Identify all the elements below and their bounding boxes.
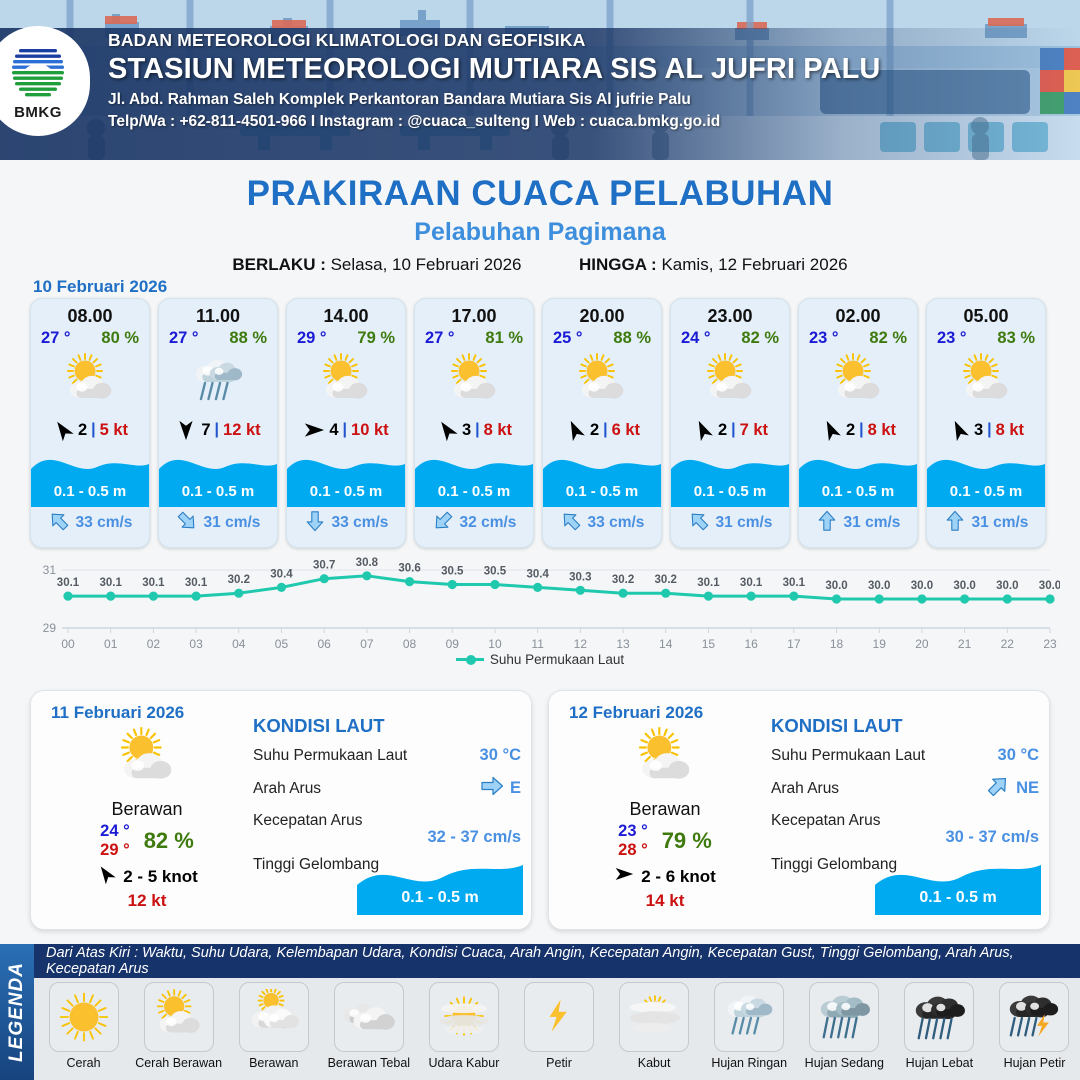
wind-direction-arrow-icon <box>692 419 714 441</box>
card-humidity: 88 % <box>613 329 651 348</box>
panel-temp-min: 23 ° <box>618 822 648 841</box>
svg-text:30.6: 30.6 <box>398 563 420 575</box>
card-wind-row: 2 | 6 kt <box>543 415 661 445</box>
wind-direction-arrow-icon <box>436 419 458 441</box>
forecast-card: 08.00 27 ° 80 % 2 | 5 kt 0. <box>30 298 150 548</box>
berlaku-value: Selasa, 10 Februari 2026 <box>331 255 522 274</box>
svg-text:30.1: 30.1 <box>185 577 208 589</box>
svg-text:09: 09 <box>446 637 460 651</box>
panel-wind-range: 2 - 6 knot <box>641 867 716 887</box>
svg-text:03: 03 <box>189 637 203 651</box>
panel-wind-row: 2 - 5 knot <box>47 864 247 889</box>
panel-temp-max: 29 ° <box>100 841 130 860</box>
svg-text:14: 14 <box>659 637 673 651</box>
forecast-day-label: 10 Februari 2026 <box>33 277 167 297</box>
svg-text:10: 10 <box>488 637 502 651</box>
svg-text:30.4: 30.4 <box>270 568 293 580</box>
current-direction-arrow-icon <box>986 774 1010 803</box>
svg-text:01: 01 <box>104 637 118 651</box>
card-time: 17.00 <box>415 299 533 327</box>
svg-text:30.3: 30.3 <box>569 571 591 583</box>
panel-wave-band: 0.1 - 0.5 m <box>875 859 1041 915</box>
current-direction-arrow-icon <box>560 510 582 537</box>
panel-date: 11 Februari 2026 <box>51 703 184 723</box>
wind-direction-arrow-icon <box>303 419 325 441</box>
svg-text:30.0: 30.0 <box>825 580 847 592</box>
sst-chart: 3129000102030405060708091011121314151617… <box>20 556 1060 686</box>
wind-gust: 5 kt <box>100 421 128 440</box>
current-speed: 33 cm/s <box>588 514 645 532</box>
wind-speed: 7 <box>201 421 210 440</box>
svg-text:21: 21 <box>958 637 972 651</box>
legend-line-marker <box>456 658 484 661</box>
legend-side-title: LEGENDA <box>6 962 28 1062</box>
legend-item: Berawan <box>228 982 319 1070</box>
weather-icon-cerah-berawan <box>144 982 214 1052</box>
weather-icon-cerah-berawan <box>415 351 533 413</box>
svg-text:30.0: 30.0 <box>868 580 890 592</box>
sst-row: Suhu Permukaan Laut 30 °C <box>771 746 1039 765</box>
panel-wind-gust: 14 kt <box>565 891 765 911</box>
page-subtitle: Pelabuhan Pagimana <box>0 218 1080 247</box>
bmkg-emblem-icon <box>7 41 69 103</box>
panel-condition: Berawan <box>47 799 247 820</box>
wind-separator: | <box>731 421 735 439</box>
current-direction-arrow-icon <box>48 510 70 537</box>
weather-icon-hujan-lebat <box>904 982 974 1052</box>
card-wave-band: 0.1 - 0.5 m <box>287 447 405 507</box>
card-wind-row: 2 | 8 kt <box>799 415 917 445</box>
legend-item-label: Petir <box>513 1056 604 1070</box>
current-direction-label: Arah Arus <box>771 780 839 798</box>
svg-text:30.5: 30.5 <box>441 566 464 578</box>
svg-text:30.0: 30.0 <box>1039 580 1060 592</box>
weather-icon-hujan-sedang <box>809 982 879 1052</box>
chart-legend: Suhu Permukaan Laut <box>20 652 1060 667</box>
wave-height: 0.1 - 0.5 m <box>799 483 917 500</box>
header-address: Jl. Abd. Rahman Saleh Komplek Perkantora… <box>108 91 880 109</box>
card-time: 02.00 <box>799 299 917 327</box>
legend-item: Berawan Tebal <box>323 982 414 1070</box>
legend-item: Hujan Lebat <box>894 982 985 1070</box>
wind-speed: 2 <box>78 421 87 440</box>
svg-text:07: 07 <box>360 637 374 651</box>
svg-text:00: 00 <box>61 637 75 651</box>
current-direction-row: Arah Arus NE <box>771 774 1039 803</box>
wind-separator: | <box>215 421 219 439</box>
card-wave-band: 0.1 - 0.5 m <box>543 447 661 507</box>
forecast-card-row: 08.00 27 ° 80 % 2 | 5 kt 0. <box>30 298 1050 548</box>
current-direction-arrow-icon <box>480 774 504 803</box>
current-direction-value: NE <box>1016 779 1039 798</box>
legend-item: Petir <box>513 982 604 1070</box>
svg-text:11: 11 <box>531 637 544 651</box>
card-temp-humidity-row: 24 ° 82 % <box>671 327 789 348</box>
card-temp-humidity-row: 27 ° 80 % <box>31 327 149 348</box>
card-temperature: 27 ° <box>41 329 71 348</box>
current-speed: 31 cm/s <box>972 514 1029 532</box>
weather-icon-cerah-berawan <box>671 351 789 413</box>
panel-humidity: 79 % <box>662 828 712 854</box>
card-wave-band: 0.1 - 0.5 m <box>159 447 277 507</box>
sea-conditions-heading: KONDISI LAUT <box>771 715 1039 737</box>
panel-wave-value: 0.1 - 0.5 m <box>875 889 1041 907</box>
wind-separator: | <box>343 421 347 439</box>
svg-text:30.0: 30.0 <box>953 580 975 592</box>
svg-text:30.1: 30.1 <box>100 577 123 589</box>
svg-text:30.1: 30.1 <box>142 577 165 589</box>
current-speed: 33 cm/s <box>332 514 389 532</box>
card-wind-row: 3 | 8 kt <box>927 415 1045 445</box>
card-temp-humidity-row: 23 ° 83 % <box>927 327 1045 348</box>
card-wave-band: 0.1 - 0.5 m <box>927 447 1045 507</box>
panel-humidity: 82 % <box>144 828 194 854</box>
forecast-card: 02.00 23 ° 82 % 2 | 8 kt 0. <box>798 298 918 548</box>
current-speed-value: 32 - 37 cm/s <box>427 828 521 847</box>
validity-range: BERLAKU : Selasa, 10 Februari 2026 HINGG… <box>0 255 1080 275</box>
wind-direction-arrow-icon <box>175 419 197 441</box>
sst-value: 30 °C <box>998 746 1039 765</box>
svg-text:16: 16 <box>744 637 758 651</box>
hingga-label: HINGGA : <box>579 255 657 274</box>
panel-left-column: Berawan 23 ° 28 ° 79 % 2 - 6 knot 14 kt <box>565 727 765 911</box>
current-speed: 33 cm/s <box>76 514 133 532</box>
legend-item: Cerah Berawan <box>133 982 224 1070</box>
card-time: 05.00 <box>927 299 1045 327</box>
weather-icon-cerah-berawan <box>47 727 247 793</box>
forecast-card: 14.00 29 ° 79 % 4 | 10 kt 0 <box>286 298 406 548</box>
svg-text:08: 08 <box>403 637 417 651</box>
legend-item-label: Hujan Lebat <box>894 1056 985 1070</box>
legend-item-label: Cerah <box>38 1056 129 1070</box>
svg-text:02: 02 <box>147 637 161 651</box>
legend-label-sst: Suhu Permukaan Laut <box>490 652 624 667</box>
panel-temp-min: 24 ° <box>100 822 130 841</box>
svg-text:19: 19 <box>873 637 887 651</box>
svg-text:30.1: 30.1 <box>740 577 763 589</box>
wind-gust: 8 kt <box>868 421 896 440</box>
sst-row: Suhu Permukaan Laut 30 °C <box>253 746 521 765</box>
current-speed-label: Kecepatan Arus <box>253 812 362 830</box>
panel-wind-row: 2 - 6 knot <box>565 864 765 889</box>
card-temperature: 29 ° <box>297 329 327 348</box>
legend-item: Cerah <box>38 982 129 1070</box>
card-temp-humidity-row: 27 ° 81 % <box>415 327 533 348</box>
svg-text:18: 18 <box>830 637 844 651</box>
current-speed: 31 cm/s <box>204 514 261 532</box>
svg-text:06: 06 <box>317 637 331 651</box>
legend-item-row: Cerah Cerah Berawan Berawan <box>34 982 1080 1070</box>
legend-item-label: Berawan <box>228 1056 319 1070</box>
current-speed: 32 cm/s <box>460 514 517 532</box>
wind-speed: 4 <box>329 421 338 440</box>
card-wave-band: 0.1 - 0.5 m <box>799 447 917 507</box>
card-temperature: 23 ° <box>937 329 967 348</box>
legend-item-label: Hujan Sedang <box>799 1056 890 1070</box>
current-speed-value: 30 - 37 cm/s <box>945 828 1039 847</box>
card-temperature: 23 ° <box>809 329 839 348</box>
svg-text:23: 23 <box>1043 637 1057 651</box>
panel-date: 12 Februari 2026 <box>569 703 703 723</box>
wave-height: 0.1 - 0.5 m <box>543 483 661 500</box>
forecast-card: 17.00 27 ° 81 % 3 | 8 kt 0. <box>414 298 534 548</box>
svg-text:30.2: 30.2 <box>655 574 677 586</box>
wind-speed: 2 <box>590 421 599 440</box>
wind-gust: 12 kt <box>223 421 261 440</box>
svg-text:30.2: 30.2 <box>228 574 250 586</box>
current-speed-value-row: 32 - 37 cm/s <box>253 828 521 847</box>
panel-temp-humidity: 24 ° 29 ° 82 % <box>47 822 247 860</box>
bmkg-logo-text: BMKG <box>14 104 62 121</box>
wave-height: 0.1 - 0.5 m <box>927 483 1045 500</box>
card-temp-humidity-row: 29 ° 79 % <box>287 327 405 348</box>
wind-direction-arrow-icon <box>614 864 634 889</box>
wave-height: 0.1 - 0.5 m <box>415 483 533 500</box>
forecast-card: 05.00 23 ° 83 % 3 | 8 kt 0. <box>926 298 1046 548</box>
header-agency-name: BADAN METEOROLOGI KLIMATOLOGI DAN GEOFIS… <box>108 30 880 51</box>
sea-conditions-heading: KONDISI LAUT <box>253 715 521 737</box>
current-speed: 31 cm/s <box>716 514 773 532</box>
current-speed: 31 cm/s <box>844 514 901 532</box>
wind-direction-arrow-icon <box>948 419 970 441</box>
panel-temp-humidity: 23 ° 28 ° 79 % <box>565 822 765 860</box>
hingga-value: Kamis, 12 Februari 2026 <box>661 255 847 274</box>
daily-summary-panel: 12 Februari 2026 Berawan 23 ° 28 ° 79 % <box>548 690 1050 930</box>
wave-height: 0.1 - 0.5 m <box>671 483 789 500</box>
current-direction-label: Arah Arus <box>253 780 321 798</box>
card-current-row: 33 cm/s <box>31 507 149 539</box>
card-current-row: 31 cm/s <box>927 507 1045 539</box>
card-wind-row: 4 | 10 kt <box>287 415 405 445</box>
svg-text:05: 05 <box>275 637 289 651</box>
weather-icon-berawan-tebal <box>334 982 404 1052</box>
forecast-card: 23.00 24 ° 82 % 2 | 7 kt 0. <box>670 298 790 548</box>
current-direction-row: Arah Arus E <box>253 774 521 803</box>
wind-speed: 3 <box>462 421 471 440</box>
weather-icon-udara-kabur <box>429 982 499 1052</box>
card-time: 20.00 <box>543 299 661 327</box>
wind-separator: | <box>475 421 479 439</box>
card-wind-row: 2 | 7 kt <box>671 415 789 445</box>
card-temperature: 27 ° <box>169 329 199 348</box>
legend-item: Udara Kabur <box>418 982 509 1070</box>
wind-direction-arrow-icon <box>820 419 842 441</box>
current-direction-value: E <box>510 779 521 798</box>
wave-height: 0.1 - 0.5 m <box>287 483 405 500</box>
card-current-row: 31 cm/s <box>671 507 789 539</box>
weather-icon-cerah-berawan <box>287 351 405 413</box>
header-station-name: STASIUN METEOROLOGI MUTIARA SIS AL JUFRI… <box>108 53 880 86</box>
legend-item-label: Kabut <box>609 1056 700 1070</box>
svg-text:13: 13 <box>616 637 630 651</box>
card-time: 23.00 <box>671 299 789 327</box>
svg-text:31: 31 <box>43 563 57 577</box>
wave-height: 0.1 - 0.5 m <box>31 483 149 500</box>
forecast-card: 20.00 25 ° 88 % 2 | 6 kt 0. <box>542 298 662 548</box>
card-temperature: 27 ° <box>425 329 455 348</box>
wind-gust: 7 kt <box>740 421 768 440</box>
legend-item-label: Hujan Petir <box>989 1056 1080 1070</box>
card-temp-humidity-row: 25 ° 88 % <box>543 327 661 348</box>
legend-note: Dari Atas Kiri : Waktu, Suhu Udara, Kele… <box>34 944 1080 978</box>
berlaku-label: BERLAKU : <box>232 255 326 274</box>
legend-side-banner: LEGENDA <box>0 944 34 1080</box>
wind-separator: | <box>859 421 863 439</box>
card-wind-row: 2 | 5 kt <box>31 415 149 445</box>
weather-icon-cerah-berawan <box>565 727 765 793</box>
weather-icon-hujan-petir <box>999 982 1069 1052</box>
page-header: BMKG BADAN METEOROLOGI KLIMATOLOGI DAN G… <box>0 0 1080 160</box>
wind-direction-arrow-icon <box>96 864 116 889</box>
title-block: PRAKIRAAN CUACA PELABUHAN Pelabuhan Pagi… <box>0 160 1080 275</box>
weather-icon-petir <box>524 982 594 1052</box>
card-temp-humidity-row: 23 ° 82 % <box>799 327 917 348</box>
daily-summary-panel: 11 Februari 2026 Berawan 24 ° 29 ° 82 % <box>30 690 532 930</box>
current-direction-arrow-icon <box>816 510 838 537</box>
panel-wind-range: 2 - 5 knot <box>123 867 198 887</box>
weather-icon-cerah-berawan <box>31 351 149 413</box>
wind-gust: 10 kt <box>351 421 389 440</box>
svg-text:30.4: 30.4 <box>526 568 549 580</box>
wind-speed: 2 <box>718 421 727 440</box>
current-direction-arrow-icon <box>944 510 966 537</box>
legend-item-label: Udara Kabur <box>418 1056 509 1070</box>
card-current-row: 33 cm/s <box>543 507 661 539</box>
weather-icon-hujan-ringan <box>159 351 277 413</box>
card-humidity: 81 % <box>485 329 523 348</box>
card-wave-band: 0.1 - 0.5 m <box>415 447 533 507</box>
svg-text:30.2: 30.2 <box>612 574 634 586</box>
card-humidity: 88 % <box>229 329 267 348</box>
weather-icon-kabut <box>619 982 689 1052</box>
current-direction-arrow-icon <box>432 510 454 537</box>
legend-item: Hujan Sedang <box>799 982 890 1070</box>
legend-item: Hujan Ringan <box>704 982 795 1070</box>
current-direction-arrow-icon <box>688 510 710 537</box>
panel-condition: Berawan <box>565 799 765 820</box>
weather-icon-cerah-berawan <box>927 351 1045 413</box>
card-temperature: 25 ° <box>553 329 583 348</box>
svg-text:30.1: 30.1 <box>697 577 720 589</box>
svg-text:30.1: 30.1 <box>783 577 806 589</box>
svg-text:30.8: 30.8 <box>356 557 379 569</box>
wind-separator: | <box>987 421 991 439</box>
svg-text:17: 17 <box>787 637 801 651</box>
card-humidity: 82 % <box>869 329 907 348</box>
panel-sea-conditions: KONDISI LAUT Suhu Permukaan Laut 30 °C A… <box>253 715 521 874</box>
svg-text:30.0: 30.0 <box>911 580 933 592</box>
card-wind-row: 3 | 8 kt <box>415 415 533 445</box>
svg-text:12: 12 <box>574 637 588 651</box>
wind-direction-arrow-icon <box>564 419 586 441</box>
card-time: 11.00 <box>159 299 277 327</box>
weather-icon-cerah-berawan <box>799 351 917 413</box>
card-temp-humidity-row: 27 ° 88 % <box>159 327 277 348</box>
card-wind-row: 7 | 12 kt <box>159 415 277 445</box>
current-direction-arrow-icon <box>176 510 198 537</box>
current-speed-label: Kecepatan Arus <box>771 812 880 830</box>
card-temperature: 24 ° <box>681 329 711 348</box>
daily-summary-panels: 11 Februari 2026 Berawan 24 ° 29 ° 82 % <box>30 690 1050 930</box>
forecast-card: 11.00 27 ° 88 % 7 | 12 kt <box>158 298 278 548</box>
wind-direction-arrow-icon <box>52 419 74 441</box>
card-current-row: 31 cm/s <box>159 507 277 539</box>
sst-value: 30 °C <box>480 746 521 765</box>
card-current-row: 31 cm/s <box>799 507 917 539</box>
svg-text:30.5: 30.5 <box>484 566 507 578</box>
sst-label: Suhu Permukaan Laut <box>771 747 925 765</box>
panel-left-column: Berawan 24 ° 29 ° 82 % 2 - 5 knot 12 kt <box>47 727 247 911</box>
wind-gust: 6 kt <box>612 421 640 440</box>
legend-item: Kabut <box>609 982 700 1070</box>
weather-icon-cerah-berawan <box>543 351 661 413</box>
card-time: 14.00 <box>287 299 405 327</box>
svg-text:20: 20 <box>915 637 929 651</box>
wind-separator: | <box>91 421 95 439</box>
wind-separator: | <box>603 421 607 439</box>
page-title: PRAKIRAAN CUACA PELABUHAN <box>0 174 1080 214</box>
panel-wave-band: 0.1 - 0.5 m <box>357 859 523 915</box>
legend-item-label: Cerah Berawan <box>133 1056 224 1070</box>
panel-sea-conditions: KONDISI LAUT Suhu Permukaan Laut 30 °C A… <box>771 715 1039 874</box>
card-wave-band: 0.1 - 0.5 m <box>671 447 789 507</box>
wind-speed: 3 <box>974 421 983 440</box>
panel-wind-gust: 12 kt <box>47 891 247 911</box>
header-text-block: BADAN METEOROLOGI KLIMATOLOGI DAN GEOFIS… <box>108 30 880 131</box>
svg-text:30.0: 30.0 <box>996 580 1018 592</box>
legend-item-label: Hujan Ringan <box>704 1056 795 1070</box>
card-humidity: 80 % <box>101 329 139 348</box>
sst-chart-svg: 3129000102030405060708091011121314151617… <box>20 556 1060 652</box>
wind-gust: 8 kt <box>484 421 512 440</box>
sst-label: Suhu Permukaan Laut <box>253 747 407 765</box>
current-speed-value-row: 30 - 37 cm/s <box>771 828 1039 847</box>
card-time: 08.00 <box>31 299 149 327</box>
panel-wave-value: 0.1 - 0.5 m <box>357 889 523 907</box>
svg-text:22: 22 <box>1001 637 1015 651</box>
legend-item: Hujan Petir <box>989 982 1080 1070</box>
card-humidity: 82 % <box>741 329 779 348</box>
wind-speed: 2 <box>846 421 855 440</box>
legend-item-label: Berawan Tebal <box>323 1056 414 1070</box>
svg-text:29: 29 <box>43 621 57 635</box>
legend-footer: LEGENDA Dari Atas Kiri : Waktu, Suhu Uda… <box>0 944 1080 1080</box>
card-humidity: 79 % <box>357 329 395 348</box>
weather-icon-hujan-ringan <box>714 982 784 1052</box>
card-humidity: 83 % <box>997 329 1035 348</box>
svg-text:15: 15 <box>702 637 716 651</box>
svg-text:30.1: 30.1 <box>57 577 80 589</box>
card-current-row: 32 cm/s <box>415 507 533 539</box>
card-wave-band: 0.1 - 0.5 m <box>31 447 149 507</box>
wind-gust: 8 kt <box>996 421 1024 440</box>
card-current-row: 33 cm/s <box>287 507 405 539</box>
header-contact: Telp/Wa : +62-811-4501-966 I Instagram :… <box>108 113 880 131</box>
panel-temp-max: 28 ° <box>618 841 648 860</box>
weather-icon-cerah <box>49 982 119 1052</box>
weather-icon-berawan <box>239 982 309 1052</box>
current-direction-arrow-icon <box>304 510 326 537</box>
svg-text:04: 04 <box>232 637 246 651</box>
svg-text:30.7: 30.7 <box>313 560 335 572</box>
wave-height: 0.1 - 0.5 m <box>159 483 277 500</box>
